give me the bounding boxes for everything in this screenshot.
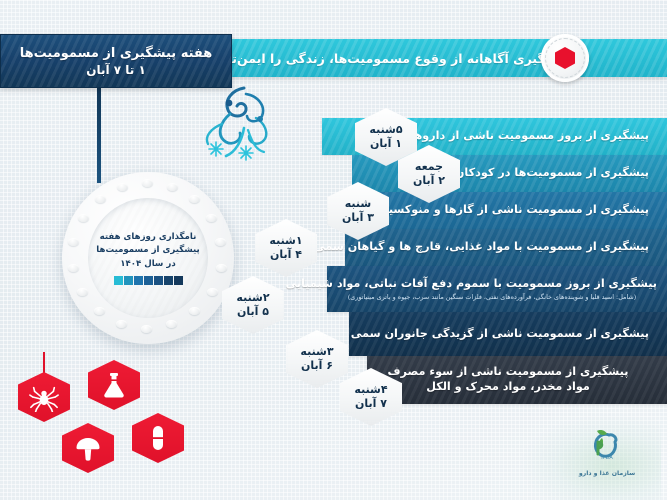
emblem-stud	[215, 238, 226, 246]
emblem-stud	[167, 183, 178, 191]
schedule-row: پیشگیری از مسمومیت ناشی از گزیدگی جانورا…	[349, 312, 667, 356]
emblem-stud	[207, 288, 218, 296]
schedule-row-text: پیشگیری از مسمومیت ناشی از گزیدگی جانورا…	[349, 327, 649, 342]
day-name: ۴شنبه	[354, 383, 387, 397]
schedule-row-text: پیشگیری از مسمومیت با مواد غذایی، قارچ ه…	[345, 240, 649, 255]
spider-thread-line	[43, 352, 45, 374]
schedule-row: پیشگیری از مسمومیت ناشی از سوء مصرف مواد…	[367, 356, 667, 404]
schedule-row-text: پیشگیری از مسمومیت ناشی از سوء مصرف مواد…	[367, 365, 649, 394]
floral-swirl-ornament	[186, 80, 306, 165]
emblem-line-1: نامگذاری روزهای هفته	[100, 231, 197, 243]
title-plate: هفته پیشگیری از مسمومیت‌ها ۱ تا ۷ آبان	[0, 34, 232, 88]
swirl-dot	[226, 100, 233, 107]
emblem-stud	[142, 179, 153, 187]
emblem-stud	[189, 195, 200, 203]
color-swatch	[114, 276, 123, 285]
color-swatch	[124, 276, 133, 285]
day-name: ۱شنبه	[269, 234, 302, 248]
organization-logo: IFDA سازمان غذا و دارو	[571, 422, 643, 482]
color-swatch	[154, 276, 163, 285]
infographic-canvas: پیشگیری از بروز مسمومیت ناشی از داروها پ…	[0, 0, 667, 500]
day-date: ۶ آبان	[301, 359, 333, 373]
schedule-row: پیشگیری از مسمومیت ناشی از گازها و منوکس…	[362, 192, 667, 229]
schedule-row: پیشگیری از مسمومیت با مواد غذایی، قارچ ه…	[345, 229, 667, 266]
day-date: ۱ آبان	[370, 137, 402, 151]
logo-caption: سازمان غذا و دارو	[579, 470, 635, 477]
red-hexagon-icon	[555, 47, 575, 69]
schedule-row-text-line1: پیشگیری از مسمومیت ناشی از سوء مصرف مواد…	[367, 365, 649, 394]
day-name: شنبه	[345, 197, 371, 211]
day-name: جمعه	[415, 160, 443, 174]
day-name: ۳شنبه	[300, 345, 333, 359]
emblem-stud	[117, 183, 128, 191]
emblem-stud	[95, 195, 106, 203]
svg-text:IFDA: IFDA	[601, 455, 613, 461]
swirl-dot	[257, 116, 263, 122]
page-title: هفته پیشگیری از مسمومیت‌ها	[20, 46, 213, 61]
day-date: ۵ آبان	[237, 305, 269, 319]
emblem-stud	[116, 320, 127, 328]
day-name: ۲شنبه	[236, 291, 269, 305]
day-date: ۴ آبان	[270, 248, 302, 262]
emblem-stud	[77, 288, 88, 296]
emblem-stud	[189, 307, 200, 315]
day-date: ۳ آبان	[342, 211, 374, 225]
emblem-stud	[166, 320, 177, 328]
banner-medallion	[541, 34, 589, 82]
emblem-stud	[216, 264, 227, 272]
color-swatch	[134, 276, 143, 285]
day-date: ۲ آبان	[413, 174, 445, 188]
schedule-row-text: پیشگیری از مسمومیت ناشی از گازها و منوکس…	[362, 203, 649, 218]
day-name: ۵شنبه	[369, 123, 402, 137]
emblem-circle: نامگذاری روزهای هفته پیشگیری از مسمومیت‌…	[62, 172, 234, 344]
emblem-stud	[141, 325, 152, 333]
emblem-color-swatches	[114, 276, 183, 285]
color-swatch	[174, 276, 183, 285]
emblem-stud	[78, 214, 89, 222]
emblem-inner: نامگذاری روزهای هفته پیشگیری از مسمومیت‌…	[88, 198, 208, 318]
emblem-stud	[206, 214, 217, 222]
color-swatch	[144, 276, 153, 285]
emblem-stud	[68, 264, 79, 272]
emblem-line-3: در سال ۱۴۰۴	[120, 258, 175, 270]
vertical-divider	[97, 88, 101, 183]
emblem-stud	[94, 307, 105, 315]
schedule-row-text: پیشگیری از بروز مسمومیت با سموم دفع آفات…	[327, 277, 657, 292]
emblem-stud	[68, 238, 79, 246]
fda-apple-leaf-logo: IFDA	[585, 428, 629, 468]
schedule-row-text: پیشگیری از مسمومیت‌ها در کودکان	[352, 166, 649, 181]
emblem-line-2: پیشگیری از مسمومیت‌ها	[96, 244, 199, 256]
day-date: ۷ آبان	[355, 397, 387, 411]
schedule-row: پیشگیری از بروز مسمومیت با سموم دفع آفات…	[327, 266, 667, 312]
color-swatch	[164, 276, 173, 285]
schedule-row-subtext: (شامل: اسید قلیا و شوینده‌های خانگی، فرآ…	[327, 293, 657, 301]
page-subtitle: ۱ تا ۷ آبان	[86, 63, 146, 77]
